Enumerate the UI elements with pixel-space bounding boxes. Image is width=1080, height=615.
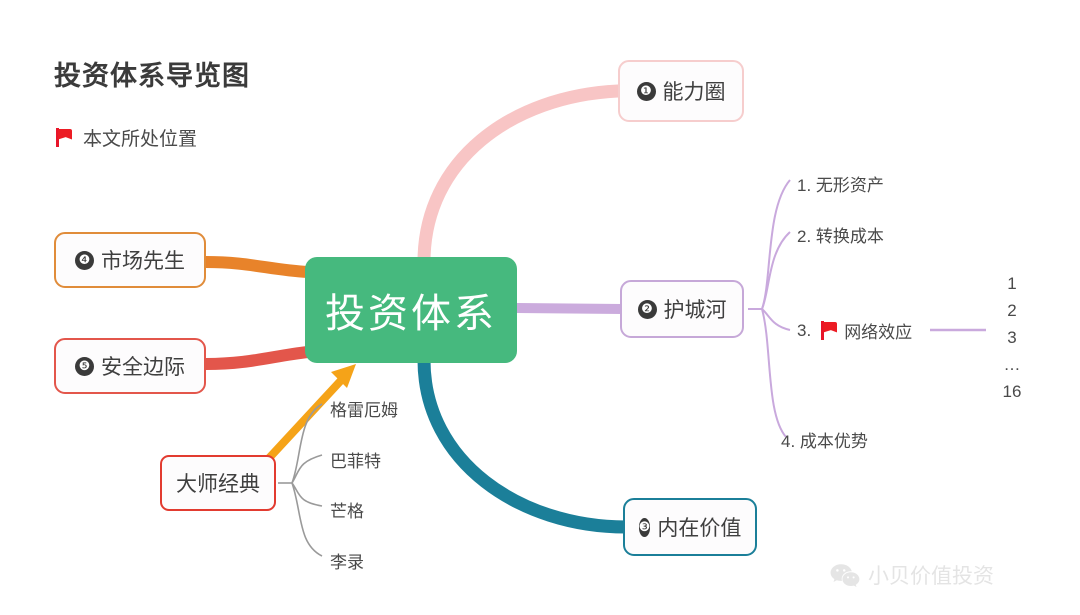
moat-child-network-effect[interactable]: 3. 网络效应 [797, 318, 912, 343]
article-number[interactable]: 1 [994, 270, 1030, 297]
branch-label-5: 安全边际 [101, 351, 185, 381]
branch-node-mr-market[interactable]: ❹ 市场先生 [54, 232, 206, 288]
masters-fan-3 [292, 483, 322, 506]
watermark: 小贝价值投资 [830, 560, 994, 590]
branch-badge-2: ❷ [638, 300, 657, 319]
branch-label-3: 内在价值 [657, 512, 741, 542]
link-center-to-capability [424, 91, 618, 262]
moat-child-label-2: 转换成本 [816, 227, 884, 246]
moat-child-intangible-assets[interactable]: 1. 无形资产 [797, 171, 884, 196]
branch-badge-3: ❸ [639, 518, 651, 537]
branch-node-moat[interactable]: ❷ 护城河 [620, 280, 744, 338]
branch-label-4: 市场先生 [101, 245, 185, 275]
mindmap-canvas: 投资体系导览图 本文所处位置 投资体系 ❶ 能力圈 ❷ 护城河 ❸ 内在价值 ❹… [0, 0, 1080, 615]
branch-badge-1: ❶ [637, 82, 656, 101]
masters-fan-2 [292, 455, 322, 483]
moat-child-cost-advantage[interactable]: 4. 成本优势 [781, 427, 868, 452]
network-effect-article-numbers: 1 2 3 … 16 [994, 270, 1030, 405]
article-number-ellipsis: … [994, 351, 1030, 378]
moat-fan-3 [762, 309, 790, 330]
branch-badge-5: ❺ [75, 357, 94, 376]
moat-child-label-3: 网络效应 [844, 318, 912, 343]
watermark-text: 小贝价值投资 [868, 560, 994, 590]
moat-fan-1 [762, 180, 790, 309]
arrow-head-masters [331, 364, 356, 388]
branch-label-2: 护城河 [664, 294, 727, 324]
link-center-to-moat [517, 308, 622, 309]
branch-node-margin-of-safety[interactable]: ❺ 安全边际 [54, 338, 206, 394]
moat-child-index-4: 4. [781, 432, 795, 451]
moat-child-index-1: 1. [797, 176, 811, 195]
master-child-munger[interactable]: 芒格 [330, 497, 364, 522]
moat-fan-2 [762, 232, 790, 309]
wechat-icon [830, 563, 860, 588]
link-center-to-mr-market [206, 262, 308, 272]
red-flag-icon [56, 128, 73, 147]
branch-node-capability-circle[interactable]: ❶ 能力圈 [618, 60, 744, 122]
masters-fan-4 [292, 483, 322, 556]
branch-label-1: 能力圈 [663, 76, 726, 106]
link-center-to-intrinsic-value [424, 360, 626, 527]
moat-child-label-4: 成本优势 [800, 432, 868, 451]
masters-classics-label: 大师经典 [176, 468, 260, 498]
master-child-graham[interactable]: 格雷厄姆 [330, 396, 398, 421]
legend-label: 本文所处位置 [83, 124, 197, 151]
moat-child-index-3: 3. [797, 321, 811, 341]
masters-fan-1 [292, 404, 322, 483]
article-number[interactable]: 3 [994, 324, 1030, 351]
center-node-label: 投资体系 [325, 281, 497, 339]
moat-child-index-2: 2. [797, 227, 811, 246]
article-number[interactable]: 2 [994, 297, 1030, 324]
moat-fan-4 [762, 309, 786, 437]
branch-badge-4: ❹ [75, 251, 94, 270]
red-flag-icon-current-position [821, 321, 838, 340]
master-child-buffett[interactable]: 巴菲特 [330, 447, 381, 472]
legend: 本文所处位置 [56, 124, 197, 151]
link-center-to-margin-of-safety [206, 352, 308, 364]
branch-node-intrinsic-value[interactable]: ❸ 内在价值 [623, 498, 757, 556]
page-title: 投资体系导览图 [54, 54, 250, 93]
master-child-li-lu[interactable]: 李录 [330, 548, 364, 573]
moat-child-label-1: 无形资产 [816, 176, 884, 195]
masters-classics-node[interactable]: 大师经典 [160, 455, 276, 511]
center-node[interactable]: 投资体系 [305, 257, 517, 363]
moat-child-switching-cost[interactable]: 2. 转换成本 [797, 222, 884, 247]
article-number[interactable]: 16 [994, 378, 1030, 405]
